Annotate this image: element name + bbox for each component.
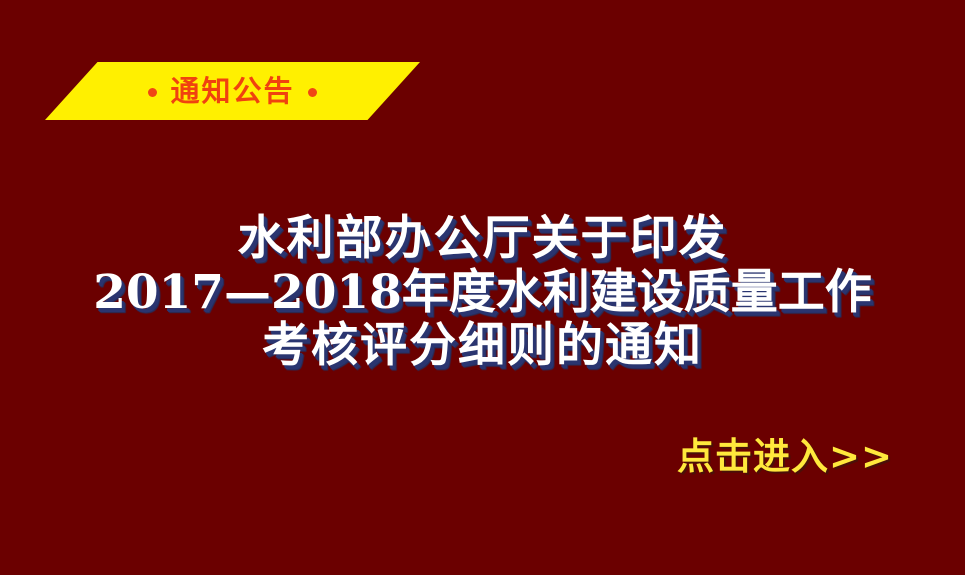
headline-line-3: 考核评分细则的通知 [0,319,965,373]
headline-block: 水利部办公厅关于印发 2017—2018年度水利建设质量工作 考核评分细则的通知 [0,212,965,373]
announcement-banner: 通知公告 水利部办公厅关于印发 2017—2018年度水利建设质量工作 考核评分… [0,0,965,575]
ribbon-label-badge: 通知公告 [45,62,420,120]
enter-link[interactable]: 点击进入>> [677,435,893,479]
headline-line-2: 2017—2018年度水利建设质量工作 [0,266,965,320]
ribbon-label-text: 通知公告 [170,77,294,106]
cta-row: 点击进入>> [0,435,965,479]
headline-line-1: 水利部办公厅关于印发 [0,212,965,266]
round-dot-icon-left [148,88,157,97]
round-dot-icon-right [308,88,317,97]
ribbon-content: 通知公告 [45,62,420,120]
